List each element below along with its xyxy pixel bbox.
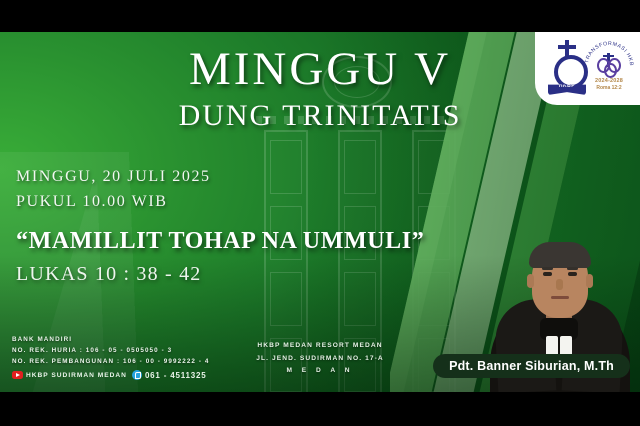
transformasi-years: 2024-2028 — [583, 78, 635, 84]
headline-secondary: DUNG TRINITATIS — [0, 101, 640, 131]
church-name: HKBP MEDAN RESORT MEDAN — [0, 340, 640, 353]
transformasi-flower-icon — [597, 53, 621, 75]
sermon-title: “MAMILLIT TOHAP NA UMMULI” — [16, 228, 424, 255]
hkbp-cross-emblem-icon: HKBP — [548, 40, 586, 98]
service-schedule: MINGGU, 20 JULI 2025 PUKUL 10.00 WIB — [16, 165, 211, 215]
transformasi-verse: Roma 12:2 — [583, 85, 635, 91]
service-date: MINGGU, 20 JULI 2025 — [16, 165, 211, 190]
scripture-reference: LUKAS 10 : 38 - 42 — [16, 263, 424, 286]
service-time: PUKUL 10.00 WIB — [16, 190, 211, 215]
worship-service-poster: HKBP TRANSFORMASI HKBP — [0, 32, 640, 392]
transformasi-logo: TRANSFORMASI HKBP 2024-2028 Roma 12:2 — [583, 38, 635, 98]
sermon-theme: “MAMILLIT TOHAP NA UMMULI” LUKAS 10 : 38… — [16, 228, 424, 286]
letterbox-bar-top — [0, 0, 640, 32]
speaker-name-badge: Pdt. Banner Siburian, M.Th — [433, 354, 630, 378]
logo-plate: HKBP TRANSFORMASI HKBP — [535, 32, 640, 105]
letterbox-bar-bottom — [0, 392, 640, 426]
speaker-name: Pdt. Banner Siburian, M.Th — [449, 359, 614, 373]
video-thumbnail-stage: HKBP TRANSFORMASI HKBP — [0, 0, 640, 426]
